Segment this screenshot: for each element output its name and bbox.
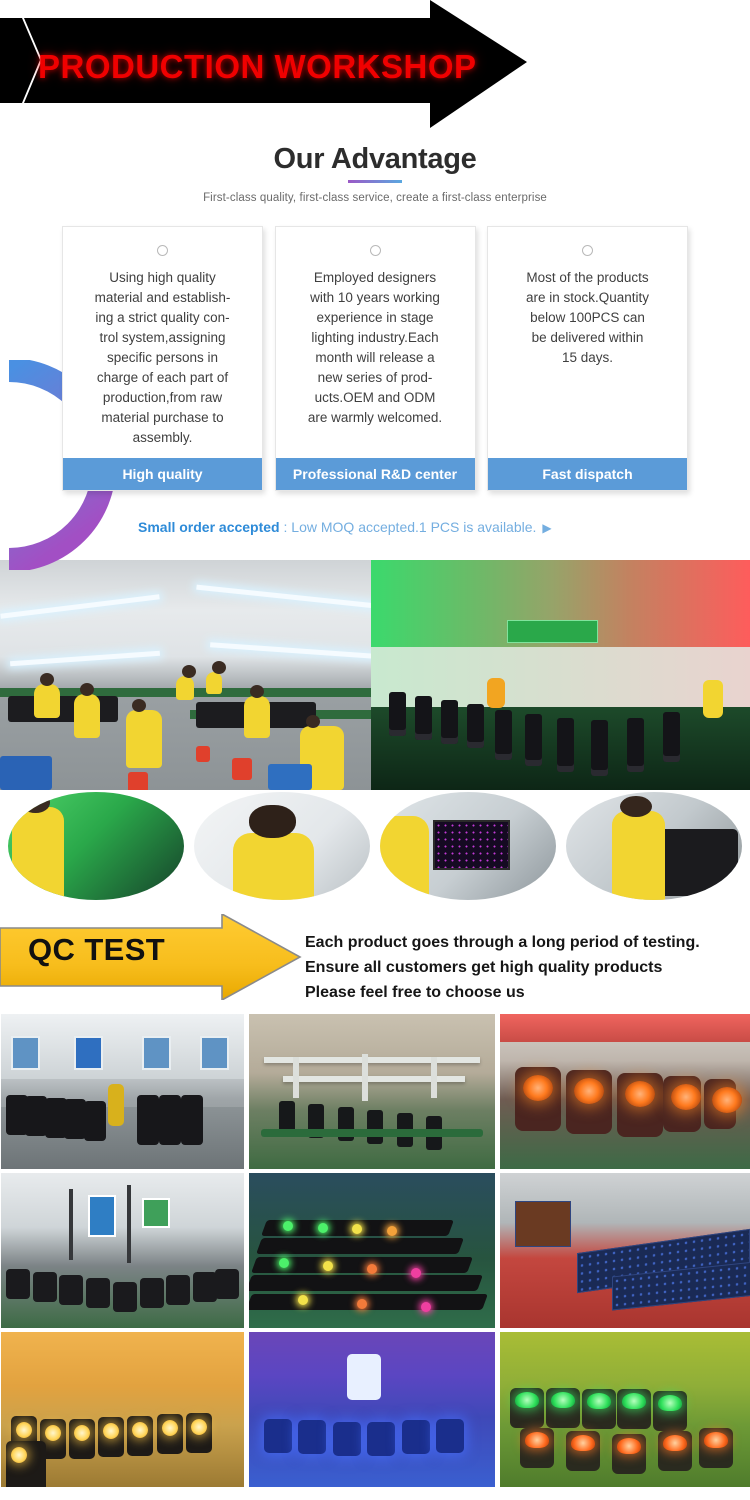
advantage-header: Our Advantage First-class quality, first… xyxy=(0,142,750,204)
gallery-photo-8[interactable] xyxy=(249,1332,495,1487)
card-footer-label: High quality xyxy=(63,458,262,490)
qc-test-description: Each product goes through a long period … xyxy=(305,930,700,1005)
oval-photo-inspection[interactable] xyxy=(566,792,742,900)
circle-outline-icon xyxy=(370,245,381,256)
workshop-photo-row xyxy=(0,560,750,790)
page-root: PRODUCTION WORKSHOP Our Advantage First-… xyxy=(0,0,750,1500)
circle-outline-icon xyxy=(157,245,168,256)
advantage-card-high-quality[interactable]: Using high quality material and establis… xyxy=(62,226,263,491)
oval-photo-monitor[interactable] xyxy=(380,792,556,900)
photo-content xyxy=(371,560,750,790)
production-workshop-banner: PRODUCTION WORKSHOP xyxy=(0,0,750,128)
gallery-photo-6[interactable] xyxy=(500,1173,750,1328)
oval-photo-row xyxy=(0,792,750,902)
card-body: Most of the products are in stock.Quanti… xyxy=(488,227,687,458)
gallery-photo-1[interactable] xyxy=(1,1014,244,1169)
photo-content xyxy=(249,1173,495,1328)
photo-content xyxy=(1,1014,244,1169)
photo-content xyxy=(1,1173,244,1328)
card-body: Using high quality material and establis… xyxy=(63,227,262,458)
advantage-underline xyxy=(348,180,402,183)
gallery-photo-4[interactable] xyxy=(1,1173,244,1328)
circle-outline-icon xyxy=(582,245,593,256)
card-body: Employed designers with 10 years working… xyxy=(276,227,475,458)
gallery-photo-7[interactable] xyxy=(1,1332,244,1487)
gallery-grid xyxy=(0,1014,750,1487)
assembly-line-photo[interactable] xyxy=(0,560,371,790)
advantage-cards: Using high quality material and establis… xyxy=(0,226,750,491)
photo-content xyxy=(8,792,184,900)
qc-test-label: QC TEST xyxy=(28,932,165,968)
photo-content xyxy=(249,1332,495,1487)
photo-content xyxy=(1,1332,244,1487)
gallery-photo-2[interactable] xyxy=(249,1014,495,1169)
small-order-line: Small order accepted : Low MOQ accepted.… xyxy=(0,517,750,538)
advantage-card-fast-dispatch[interactable]: Most of the products are in stock.Quanti… xyxy=(487,226,688,491)
green-lit-hall-photo[interactable] xyxy=(371,560,750,790)
gallery-photo-9[interactable] xyxy=(500,1332,750,1487)
photo-content xyxy=(249,1014,495,1169)
photo-content xyxy=(194,792,370,900)
advantage-card-rd-center[interactable]: Employed designers with 10 years working… xyxy=(275,226,476,491)
photo-content xyxy=(500,1173,750,1328)
card-text: Most of the products are in stock.Quanti… xyxy=(501,268,674,368)
play-arrow-icon: ▶ xyxy=(542,521,551,535)
photo-content xyxy=(0,560,371,790)
photo-content xyxy=(380,792,556,900)
card-footer-label: Professional R&D center xyxy=(276,458,475,490)
banner-title: PRODUCTION WORKSHOP xyxy=(38,48,477,86)
gallery-photo-5[interactable] xyxy=(249,1173,495,1328)
photo-content xyxy=(566,792,742,900)
card-footer-label: Fast dispatch xyxy=(488,458,687,490)
gallery-photo-3[interactable] xyxy=(500,1014,750,1169)
advantage-subtitle: First-class quality, first-class service… xyxy=(0,192,750,204)
oval-photo-green-test[interactable] xyxy=(8,792,184,900)
small-order-separator: : xyxy=(280,519,292,535)
advantage-title: Our Advantage xyxy=(0,142,750,176)
oval-photo-soldering[interactable] xyxy=(194,792,370,900)
qc-test-section: QC TEST Each product goes through a long… xyxy=(0,902,750,1014)
card-text: Using high quality material and establis… xyxy=(76,268,249,448)
photo-content xyxy=(500,1014,750,1169)
card-text: Employed designers with 10 years working… xyxy=(289,268,462,428)
photo-content xyxy=(500,1332,750,1487)
small-order-label: Small order accepted xyxy=(138,519,280,535)
small-order-value: Low MOQ accepted.1 PCS is available. xyxy=(291,519,536,535)
